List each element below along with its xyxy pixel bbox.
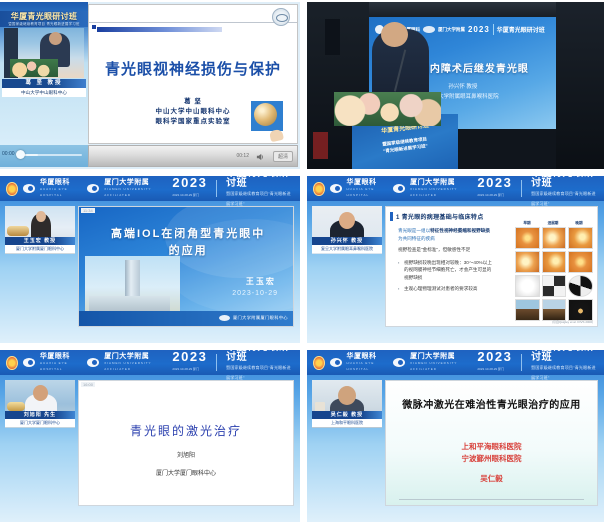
- screen-partner: 厦门大学附属: [438, 27, 465, 33]
- camera-speaker-org: 厦门大学厦门眼科中心: [5, 419, 75, 427]
- slide-canvas-6: 微脉冲激光在难治性青光眼治疗的应用 上和平海眼科医院 宁波鄞州眼科医院 吴仁毅: [385, 380, 598, 506]
- figure-scene-mid: [542, 299, 567, 321]
- event-year-sub: 2023·10·28-29 厦门: [477, 189, 512, 201]
- brand-sub: HUAXIA EYE HOSPITAL: [40, 186, 82, 198]
- slide-3-footer-text: 厦门大学附属厦门眼科中心: [233, 315, 288, 321]
- deck-header-3: 华厦眼科 HUAXIA EYE HOSPITAL 厦门大学附属 XIAMEN U…: [0, 176, 300, 201]
- slide-5-timestamp: 16:00: [81, 382, 95, 387]
- player-control-bar[interactable]: 00:12 超清: [88, 145, 298, 167]
- deck-frame-3: 华厦眼科 HUAXIA EYE HOSPITAL 厦门大学附属 XIAMEN U…: [0, 176, 300, 343]
- slide-4-bullet-2: 主观心理物理测试对患者的要求较高: [398, 285, 494, 293]
- figure-nerve-late: [568, 251, 593, 273]
- sidebar-event-title-text: 华厦青光眼研讨班: [11, 12, 77, 21]
- event-title: 华厦青光眼研讨班: [531, 176, 598, 189]
- camera-speaker-name: 吴仁毅 教授: [312, 411, 382, 419]
- partner-block: 厦门大学附属 XIAMEN UNIVERSITY AFFILIATED: [104, 180, 165, 198]
- deck-frame-4: 华厦眼科 HUAXIA EYE HOSPITAL 厦门大学附属 XIAMEN U…: [307, 176, 604, 343]
- event-year: 2023 2023·10·28-29 厦门: [477, 351, 512, 375]
- camera-speaker-org: 厦门大学附属厦门眼科中心: [5, 245, 75, 253]
- camera-flowers: [7, 226, 29, 236]
- podium-subtitle: 暨国家级继续教育项目 "青光眼新进展学习班": [357, 132, 452, 157]
- sidebar-event-subtitle: 暨国家级继续教育项目 青光眼新进展学习班: [0, 22, 88, 26]
- slide-6-author: 吴仁毅: [386, 473, 597, 484]
- deck-frame-6: 华厦眼科 HUAXIA EYE HOSPITAL 厦门大学附属 XIAMEN U…: [307, 350, 604, 522]
- eye-logo-icon-2: [393, 184, 405, 193]
- para1-pre: 青光眼是一组以: [398, 228, 430, 233]
- header-separator: [521, 180, 522, 197]
- slide-accent-bar: [97, 27, 222, 32]
- figure-scene-early: [515, 299, 540, 321]
- slide-3-footer: 厦门大学附属厦门眼科中心: [79, 311, 293, 326]
- partner-sub: XIAMEN UNIVERSITY AFFILIATED: [104, 360, 165, 372]
- slide-6-bottom-rule: [399, 499, 585, 500]
- crest-icon: [313, 182, 325, 196]
- event-year: 2023 2023·10·28-29 厦门: [172, 351, 207, 375]
- event-year-sub: 2023·10·28-29 厦门: [477, 363, 512, 375]
- crest-icon: [6, 182, 18, 196]
- brand-block: 华厦眼科 HUAXIA EYE HOSPITAL: [347, 354, 389, 372]
- figure-nerve-mid: [542, 251, 567, 273]
- figure-label-late: 晚期: [567, 221, 591, 226]
- speaker-icon[interactable]: [255, 152, 265, 162]
- event-title: 华厦青光眼研讨班: [226, 350, 294, 363]
- quality-button[interactable]: 超清: [273, 151, 293, 162]
- figure-row-3: [515, 275, 593, 297]
- event-year-text: 2023: [477, 350, 512, 364]
- figure-column-labels: 早期 进展期 晚期: [515, 221, 593, 226]
- crest-icon: [6, 356, 18, 370]
- slide-3-date: 2023-10-29: [232, 290, 278, 297]
- slide-4-figure-grid: 早期 进展期 晚期: [515, 221, 593, 323]
- figure-label-mid: 进展期: [541, 221, 565, 226]
- sidebar-speaker-name: 葛 坚 教授: [2, 79, 86, 88]
- slide-4-bullet-1: 视野缺损较晚出现相对较晚：30～40%以上的视网膜神经节细胞死亡，才会产生可显的…: [398, 259, 494, 282]
- figure-row-4: [515, 299, 593, 321]
- deck-frame-5: 华厦眼科 HUAXIA EYE HOSPITAL 厦门大学附属 XIAMEN U…: [0, 350, 300, 522]
- screenshot-grid: 华厦青光眼研讨班 暨国家级继续教育项目 青光眼新进展学习班 葛 坚 教授 中山大…: [0, 0, 607, 526]
- eye-logo-icon: [330, 358, 342, 367]
- brand-sub: HUAXIA EYE HOSPITAL: [347, 186, 389, 198]
- figure-row-1: [515, 227, 593, 249]
- camera-speaker-name: 王玉宏 教授: [5, 237, 75, 245]
- slide-divider: [89, 22, 297, 23]
- slide-4-bg: 1 青光眼的病理基础与临床特点 青光眼是一组以特征性视神经萎缩和视野缺损为共同特…: [386, 207, 597, 326]
- event-year-text: 2023: [477, 176, 512, 190]
- partner-sub: XIAMEN UNIVERSITY AFFILIATED: [410, 360, 470, 372]
- globe-graphic-icon: [251, 101, 283, 131]
- player-sidebar: 华厦青光眼研讨班 暨国家级继续教育项目 青光眼新进展学习班 葛 坚 教授 中山大…: [0, 2, 88, 147]
- slide-6-bg: 微脉冲激光在难治性青光眼治疗的应用 上和平海眼科医院 宁波鄞州眼科医院 吴仁毅: [386, 381, 597, 505]
- video-player[interactable]: 华厦青光眼研讨班 暨国家级继续教育项目 青光眼新进展学习班 葛 坚 教授 中山大…: [0, 2, 300, 169]
- eye-logo-icon-2: [87, 358, 99, 367]
- hall-loudspeaker: [325, 19, 340, 56]
- hall-right-wall: [556, 2, 604, 169]
- figure-nerve-early: [515, 251, 540, 273]
- sidebar-speaker-photo: [4, 28, 84, 78]
- building-base: [89, 296, 170, 311]
- panel-slide-laser[interactable]: 华厦眼科 HUAXIA EYE HOSPITAL 厦门大学附属 XIAMEN U…: [0, 346, 303, 526]
- slide-6-title: 微脉冲激光在难治性青光眼治疗的应用: [394, 396, 588, 411]
- camera-person-head: [338, 386, 356, 405]
- screen-year: 2023: [468, 25, 490, 34]
- para1-bold: 特征性视神经萎缩和视野缺损: [430, 228, 490, 233]
- camera-flowers: [7, 402, 25, 411]
- slide-4-para-2: 视野检查是"金标准"，但敏感性不足: [398, 246, 494, 254]
- deck-header-4: 华厦眼科 HUAXIA EYE HOSPITAL 厦门大学附属 XIAMEN U…: [307, 176, 604, 201]
- partner-block: 厦门大学附属 XIAMEN UNIVERSITY AFFILIATED: [410, 354, 470, 372]
- hall-speaker-head: [381, 22, 408, 47]
- header-separator: [521, 354, 522, 371]
- camera-thumbnail-5[interactable]: 刘旭阳 先生 厦门大学厦门眼科中心: [5, 380, 75, 428]
- camera-person-head: [339, 212, 355, 229]
- camera-thumbnail-3[interactable]: 王玉宏 教授 厦门大学附属厦门眼科中心: [5, 206, 75, 254]
- slide-4-body: 青光眼是一组以特征性视神经萎缩和视野缺损为共同特征的疾病 视野检查是"金标准"，…: [398, 227, 494, 297]
- eye-logo-icon: [219, 315, 230, 321]
- slide-5-author: 刘旭阳: [79, 450, 293, 459]
- slide-3-timestamp: 11:34: [81, 208, 95, 213]
- slide-canvas-4: 1 青光眼的病理基础与临床特点 青光眼是一组以特征性视神经萎缩和视野缺损为共同特…: [385, 206, 598, 327]
- player-progress-bar[interactable]: 00:00: [0, 145, 88, 167]
- camera-speaker-name: 刘旭阳 先生: [5, 411, 75, 419]
- slide-4-citation: (引自Quigley et al. IOVS 2000): [552, 320, 593, 324]
- eye-logo-icon-2: [393, 358, 405, 367]
- event-title-block: 华厦青光眼研讨班 暨国家级继续教育项目"青光眼新进展学习班": [531, 350, 598, 383]
- partner-block: 厦门大学附属 XIAMEN UNIVERSITY AFFILIATED: [104, 354, 165, 372]
- photo-person-head: [49, 32, 62, 45]
- slide-5-title: 青光眼的激光治疗: [79, 422, 293, 439]
- figure-optic-disc-late: [568, 227, 593, 249]
- header-separator: [216, 180, 217, 197]
- para1-post: 为共同特征的疾病: [398, 236, 435, 241]
- slide-5-bg: 青光眼的激光治疗 刘旭阳 厦门大学厦门眼科中心: [79, 381, 293, 505]
- slide-3-building-photo: [85, 256, 179, 313]
- deck-header-6: 华厦眼科 HUAXIA EYE HOSPITAL 厦门大学附属 XIAMEN U…: [307, 350, 604, 375]
- partner-sub: XIAMEN UNIVERSITY AFFILIATED: [104, 186, 165, 198]
- event-year-text: 2023: [172, 176, 207, 190]
- university-seal-icon: [272, 8, 290, 26]
- eye-logo-icon-2: [87, 184, 99, 193]
- conference-hall-photo: 华厦眼科 厦门大学附属 2023 华厦青光眼研讨班 小儿白内障术后继发青光眼 孙…: [307, 2, 604, 169]
- camera-person-head: [36, 211, 46, 222]
- slide-canvas-5: 青光眼的激光治疗 刘旭阳 厦门大学厦门眼科中心 16:00: [78, 380, 294, 506]
- brand-block: 华厦眼科 HUAXIA EYE HOSPITAL: [347, 180, 389, 198]
- figure-field-early: [515, 275, 540, 297]
- figure-optic-disc-mid: [542, 227, 567, 249]
- figure-optic-disc-early: [515, 227, 540, 249]
- duration-label: 00:12: [236, 153, 249, 159]
- figure-label-early: 早期: [515, 221, 539, 226]
- figure-field-late: [568, 275, 593, 297]
- slide-6-org-line1: 上和平海眼科医院: [386, 441, 597, 453]
- sidebar-event-title: 华厦青光眼研讨班 暨国家级继续教育项目 青光眼新进展学习班: [0, 11, 88, 27]
- heading-accent-bar: [390, 212, 393, 221]
- photo-flowers: [10, 59, 58, 77]
- deck-header-5: 华厦眼科 HUAXIA EYE HOSPITAL 厦门大学附属 XIAMEN U…: [0, 350, 300, 375]
- camera-person-head: [33, 385, 48, 401]
- slide-canvas-3: 高端IOL在闭角型青光眼中 的应用 王玉宏 2023-10-29 厦门大学附属厦…: [78, 206, 294, 327]
- seek-track[interactable]: [20, 154, 82, 156]
- brand-sub: HUAXIA EYE HOSPITAL: [347, 360, 389, 372]
- figure-field-mid: [542, 275, 567, 297]
- crest-icon: [313, 356, 325, 370]
- slide-3-bg: 高端IOL在闭角型青光眼中 的应用 王玉宏 2023-10-29 厦门大学附属厦…: [79, 207, 293, 326]
- slide-title: 青光眼视神经损伤与保护: [89, 58, 297, 79]
- partner-block: 厦门大学附属 XIAMEN UNIVERSITY AFFILIATED: [410, 180, 470, 198]
- panel-hall-photo[interactable]: 华厦眼科 厦门大学附属 2023 华厦青光眼研讨班 小儿白内障术后继发青光眼 孙…: [303, 0, 607, 172]
- slide-4-heading-text: 1 青光眼的病理基础与临床特点: [396, 212, 484, 221]
- figure-scene-late: [568, 299, 593, 321]
- panel-slide-micropulse[interactable]: 华厦眼科 HUAXIA EYE HOSPITAL 厦门大学附属 XIAMEN U…: [303, 346, 607, 526]
- camera-thumbnail-6[interactable]: 吴仁毅 教授 上海和平眼科医院: [312, 380, 382, 428]
- slide-3-title-line1: 高端IOL在闭角型青光眼中: [92, 226, 285, 243]
- eye-logo-icon-2: [423, 26, 435, 33]
- podium-flower-arrangement: [334, 92, 441, 125]
- event-year-text: 2023: [172, 350, 207, 364]
- hall-red-banner: [313, 132, 328, 159]
- panel-slide-iol[interactable]: 华厦眼科 HUAXIA EYE HOSPITAL 厦门大学附属 XIAMEN U…: [0, 172, 303, 346]
- brand-block: 华厦眼科 HUAXIA EYE HOSPITAL: [40, 354, 82, 372]
- screen-separator: [493, 24, 494, 35]
- event-title: 华厦青光眼研讨班: [226, 176, 294, 189]
- event-year-sub: 2023·10·28-29 厦门: [172, 189, 207, 201]
- event-title-block: 华厦青光眼研讨班 暨国家级继续教育项目"青光眼新进展学习班": [226, 350, 294, 383]
- slide-6-org-block: 上和平海眼科医院 宁波鄞州眼科医院: [386, 441, 597, 465]
- slide-4-para-1: 青光眼是一组以特征性视神经萎缩和视野缺损为共同特征的疾病: [398, 227, 494, 242]
- eye-logo-icon: [23, 184, 35, 193]
- eye-logo-icon: [330, 184, 342, 193]
- sidebar-speaker-org: 中山大学中山眼科中心: [2, 88, 86, 97]
- event-title-block: 华厦青光眼研讨班 暨国家级继续教育项目"青光眼新进展学习班": [226, 176, 294, 209]
- event-year: 2023 2023·10·28-29 厦门: [172, 177, 207, 201]
- event-year: 2023 2023·10·28-29 厦门: [477, 177, 512, 201]
- camera-thumbnail-4[interactable]: 孙兴怀 教授 复旦大学附属眼耳鼻喉科医院: [312, 206, 382, 254]
- slide-5-org: 厦门大学厦门眼科中心: [79, 468, 293, 477]
- slide-6-org-line2: 宁波鄞州眼科医院: [386, 453, 597, 465]
- seek-handle[interactable]: [16, 150, 25, 159]
- panel-slide-pathology[interactable]: 华厦眼科 HUAXIA EYE HOSPITAL 厦门大学附属 XIAMEN U…: [303, 172, 607, 346]
- brand-sub: HUAXIA EYE HOSPITAL: [40, 360, 82, 372]
- eye-logo-icon: [23, 358, 35, 367]
- current-time-label: 00:00: [2, 151, 15, 157]
- camera-speaker-org: 上海和平眼科医院: [312, 419, 382, 427]
- event-title-block: 华厦青光眼研讨班 暨国家级继续教育项目"青光眼新进展学习班": [531, 176, 598, 209]
- panel-video-player[interactable]: 华厦青光眼研讨班 暨国家级继续教育项目 青光眼新进展学习班 葛 坚 教授 中山大…: [0, 0, 303, 172]
- event-year-sub: 2023·10·28-29 厦门: [172, 363, 207, 375]
- header-separator: [216, 354, 217, 371]
- event-title: 华厦青光眼研讨班: [531, 350, 598, 363]
- partner-sub: XIAMEN UNIVERSITY AFFILIATED: [410, 186, 470, 198]
- figure-row-2: [515, 251, 593, 273]
- slide-accent-dot: [92, 25, 96, 29]
- player-slide-area: 青光眼视神经损伤与保护 葛 坚 中山大学中山眼科中心 眼科学国家重点实验室: [88, 4, 298, 144]
- screen-event-title: 华厦青光眼研讨班: [497, 25, 545, 34]
- camera-speaker-name: 孙兴怀 教授: [312, 237, 382, 245]
- camera-speaker-org: 复旦大学附属眼耳鼻喉科医院: [312, 245, 382, 253]
- brand-block: 华厦眼科 HUAXIA EYE HOSPITAL: [40, 180, 82, 198]
- slide-3-author: 王玉宏: [246, 276, 276, 287]
- slide-4-heading: 1 青光眼的病理基础与临床特点: [390, 212, 484, 221]
